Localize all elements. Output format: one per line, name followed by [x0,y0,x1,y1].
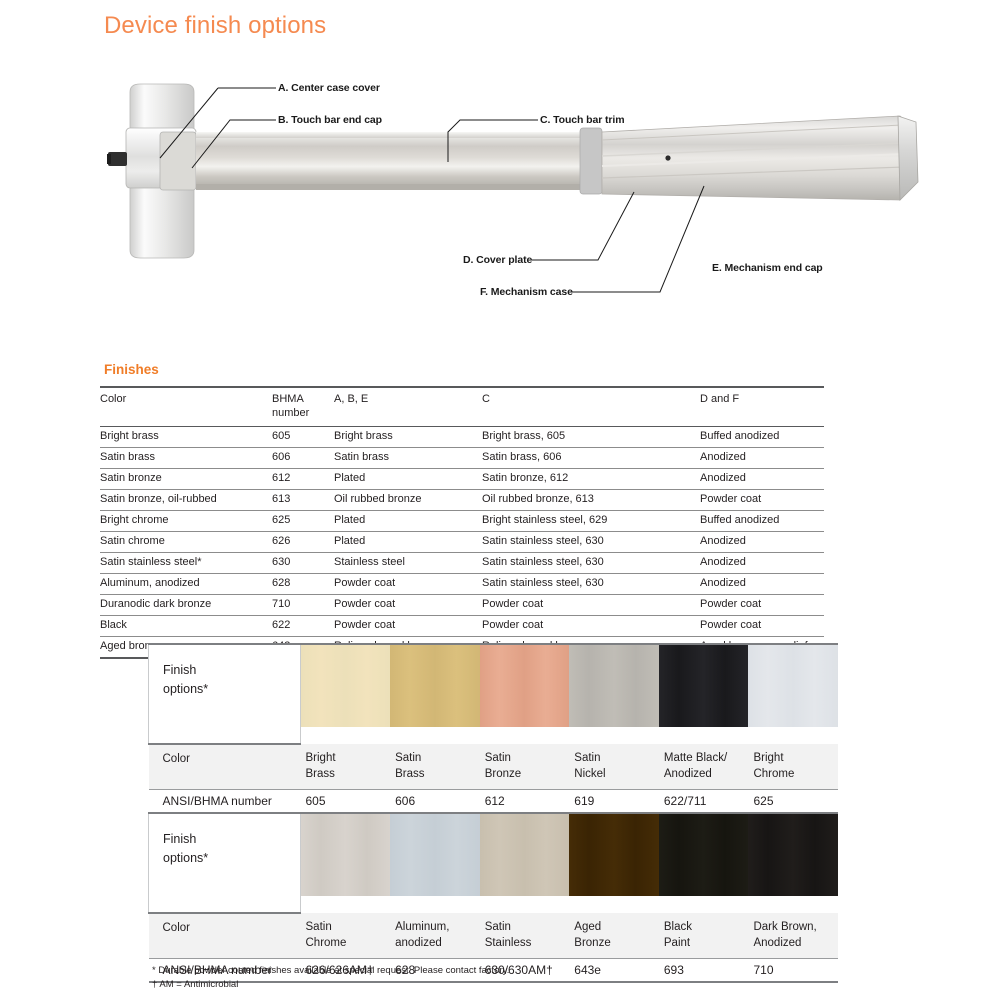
swatch-black-paint [659,813,749,913]
swatch-satin-bronze [480,644,570,744]
swatch-satin-chrome [301,813,391,913]
swatch-satin-stainless [480,813,570,913]
finishes-cell-bhma-number: 630 [272,552,334,573]
finishes-cell-abe: Stainless steel [334,552,482,573]
swatch2-name-4: BlackPaint [659,913,749,959]
finishes-cell-bhma-number: 626 [272,531,334,552]
callout-label-d: D. Cover plate [463,254,532,266]
swatch2-color-2 [480,814,570,896]
table-row: Duranodic dark bronze710Powder coatPowde… [100,594,824,615]
finishes-cell-abe: Oil rubbed bronze [334,489,482,510]
finishes-cell-bhma-number: 628 [272,573,334,594]
swatch-name-3: SatinNickel [569,744,659,790]
finishes-cell-abe: Plated [334,531,482,552]
finishes-cell-c: Satin brass, 606 [482,447,700,468]
finishes-cell-c: Satin stainless steel, 630 [482,552,700,573]
finishes-cell-color: Satin brass [100,447,272,468]
finishes-cell-d-and-f: Anodized [700,468,824,489]
swatch2-name-2: SatinStainless [480,913,570,959]
swatch-number-1: 606 [390,790,480,814]
swatch-number-4: 622/711 [659,790,749,814]
swatch-name-1: SatinBrass [390,744,480,790]
finishes-cell-color: Black [100,615,272,636]
finishes-col-color: Color [100,387,272,426]
finishes-cell-color: Satin bronze, oil-rubbed [100,489,272,510]
swatch2-name-3: AgedBronze [569,913,659,959]
footnotes: * Durable powder coated finishes availab… [152,964,509,992]
finishes-cell-bhma-number: 612 [272,468,334,489]
swatch-color-4 [659,645,749,727]
swatch2-name-5: Dark Brown,Anodized [748,913,838,959]
finishes-col-abe: A, B, E [334,387,482,426]
finishes-section-heading: Finishes [104,362,159,377]
finishes-cell-abe: Powder coat [334,594,482,615]
device-diagram-svg [100,70,930,315]
finish-options-label-1: Finish options* [149,644,301,744]
swatch-satin-brass [390,644,480,744]
finishes-cell-c: Oil rubbed bronze, 613 [482,489,700,510]
swatch-name-2: SatinBronze [480,744,570,790]
finishes-cell-bhma-number: 622 [272,615,334,636]
swatch-number-2: 612 [480,790,570,814]
swatch-number-5: 625 [748,790,838,814]
finishes-cell-abe: Plated [334,510,482,531]
swatch-number-3: 619 [569,790,659,814]
color-row-label-1: Color [149,744,301,790]
swatch-color-5 [748,645,838,727]
swatch-color-1 [390,645,480,727]
table-row: Aluminum, anodized628Powder coatSatin st… [100,573,824,594]
finishes-cell-abe: Powder coat [334,615,482,636]
finishes-cell-c: Satin stainless steel, 630 [482,531,700,552]
swatch-bright-brass [301,644,391,744]
table-row: Satin bronze, oil-rubbed613Oil rubbed br… [100,489,824,510]
finishes-cell-c: Bright stainless steel, 629 [482,510,700,531]
finishes-cell-bhma-number: 625 [272,510,334,531]
finishes-table-head: Color BHMA number A, B, E C D and F [100,387,824,426]
swatch-numbers-row-1: ANSI/BHMA number 605 606 612 619 622/711… [149,790,839,814]
finishes-col-d-and-f: D and F [700,387,824,426]
color-row-label-2: Color [149,913,301,959]
finishes-cell-bhma-number: 606 [272,447,334,468]
swatch-satin-nickel [569,644,659,744]
finishes-cell-abe: Plated [334,468,482,489]
callout-label-b: B. Touch bar end cap [278,114,382,126]
swatch-aluminum-anodized [390,813,480,913]
footnote-dagger: † AM = Antimicrobial [152,978,509,992]
swatch2-color-0 [301,814,390,896]
swatch2-number-3: 643e [569,959,659,983]
finishes-cell-c: Bright brass, 605 [482,426,700,447]
swatch-matte-black [659,644,749,744]
finishes-cell-d-and-f: Anodized [700,531,824,552]
swatch2-color-4 [659,814,749,896]
finishes-col-bhma-number: BHMA number [272,387,334,426]
finishes-cell-d-and-f: Powder coat [700,615,824,636]
swatch-strip-row-2: Finish options* [149,813,839,913]
swatch-color-3 [569,645,659,727]
finish-options-label-2: Finish options* [149,813,301,913]
swatch2-number-4: 693 [659,959,749,983]
finishes-cell-d-and-f: Powder coat [700,489,824,510]
finishes-table-body: Bright brass605Bright brassBright brass,… [100,426,824,658]
finishes-cell-color: Bright chrome [100,510,272,531]
swatch2-color-1 [390,814,480,896]
swatch-number-0: 605 [301,790,391,814]
footnote-asterisk: * Durable powder coated finishes availab… [152,964,509,978]
finishes-cell-abe: Powder coat [334,573,482,594]
finishes-cell-bhma-number: 605 [272,426,334,447]
finishes-cell-d-and-f: Powder coat [700,594,824,615]
finishes-cell-abe: Satin brass [334,447,482,468]
callout-label-e: E. Mechanism end cap [712,262,823,274]
finishes-cell-color: Bright brass [100,426,272,447]
swatch2-number-5: 710 [748,959,838,983]
swatch-strip-row-1: Finish options* [149,644,839,744]
finishes-cell-c: Powder coat [482,615,700,636]
swatch-dark-brown-anodized [748,813,838,913]
finishes-cell-d-and-f: Anodized [700,573,824,594]
finishes-cell-d-and-f: Buffed anodized [700,426,824,447]
page-title: Device finish options [104,12,326,40]
table-row: Black622Powder coatPowder coatPowder coa… [100,615,824,636]
callout-label-f: F. Mechanism case [480,286,573,298]
swatch-color-names-row-1: Color BrightBrass SatinBrass SatinBronze… [149,744,839,790]
table-row: Satin bronze612PlatedSatin bronze, 612An… [100,468,824,489]
finishes-cell-c: Satin stainless steel, 630 [482,573,700,594]
table-row: Satin brass606Satin brassSatin brass, 60… [100,447,824,468]
table-row: Bright chrome625PlatedBright stainless s… [100,510,824,531]
finishes-cell-color: Aluminum, anodized [100,573,272,594]
finishes-cell-bhma-number: 710 [272,594,334,615]
finish-options-table-2: Finish options* Color SatinChrome Alumin… [148,812,838,983]
device-diagram: A. Center case cover B. Touch bar end ca… [100,70,930,315]
finishes-cell-d-and-f: Buffed anodized [700,510,824,531]
swatch-color-names-row-2: Color SatinChrome Aluminum,anodized Sati… [149,913,839,959]
swatch2-color-5 [748,814,838,896]
swatch-aged-bronze [569,813,659,913]
finishes-col-c: C [482,387,700,426]
swatch-bright-chrome [748,644,838,744]
finishes-cell-c: Satin bronze, 612 [482,468,700,489]
swatch2-color-3 [569,814,659,896]
finishes-cell-color: Satin stainless steel* [100,552,272,573]
callout-label-c: C. Touch bar trim [540,114,624,126]
finishes-cell-color: Duranodic dark bronze [100,594,272,615]
finishes-header-row: Color BHMA number A, B, E C D and F [100,387,824,426]
finishes-cell-c: Powder coat [482,594,700,615]
swatch2-name-0: SatinChrome [301,913,391,959]
finishes-cell-d-and-f: Anodized [700,552,824,573]
swatch-name-5: BrightChrome [748,744,838,790]
finishes-cell-bhma-number: 613 [272,489,334,510]
callout-label-a: A. Center case cover [278,82,380,94]
table-row: Satin chrome626PlatedSatin stainless ste… [100,531,824,552]
table-row: Satin stainless steel*630Stainless steel… [100,552,824,573]
finishes-cell-d-and-f: Anodized [700,447,824,468]
finishes-table: Color BHMA number A, B, E C D and F Brig… [100,386,824,659]
finishes-cell-color: Satin bronze [100,468,272,489]
ansi-bhma-label-1: ANSI/BHMA number [149,790,301,814]
finish-options-table-1: Finish options* Color BrightBrass SatinB… [148,643,838,814]
swatch-name-4: Matte Black/Anodized [659,744,749,790]
finishes-cell-abe: Bright brass [334,426,482,447]
swatch2-name-1: Aluminum,anodized [390,913,480,959]
swatch-name-0: BrightBrass [301,744,391,790]
swatch-color-0 [301,645,390,727]
swatch-color-2 [480,645,570,727]
table-row: Bright brass605Bright brassBright brass,… [100,426,824,447]
finishes-cell-color: Satin chrome [100,531,272,552]
